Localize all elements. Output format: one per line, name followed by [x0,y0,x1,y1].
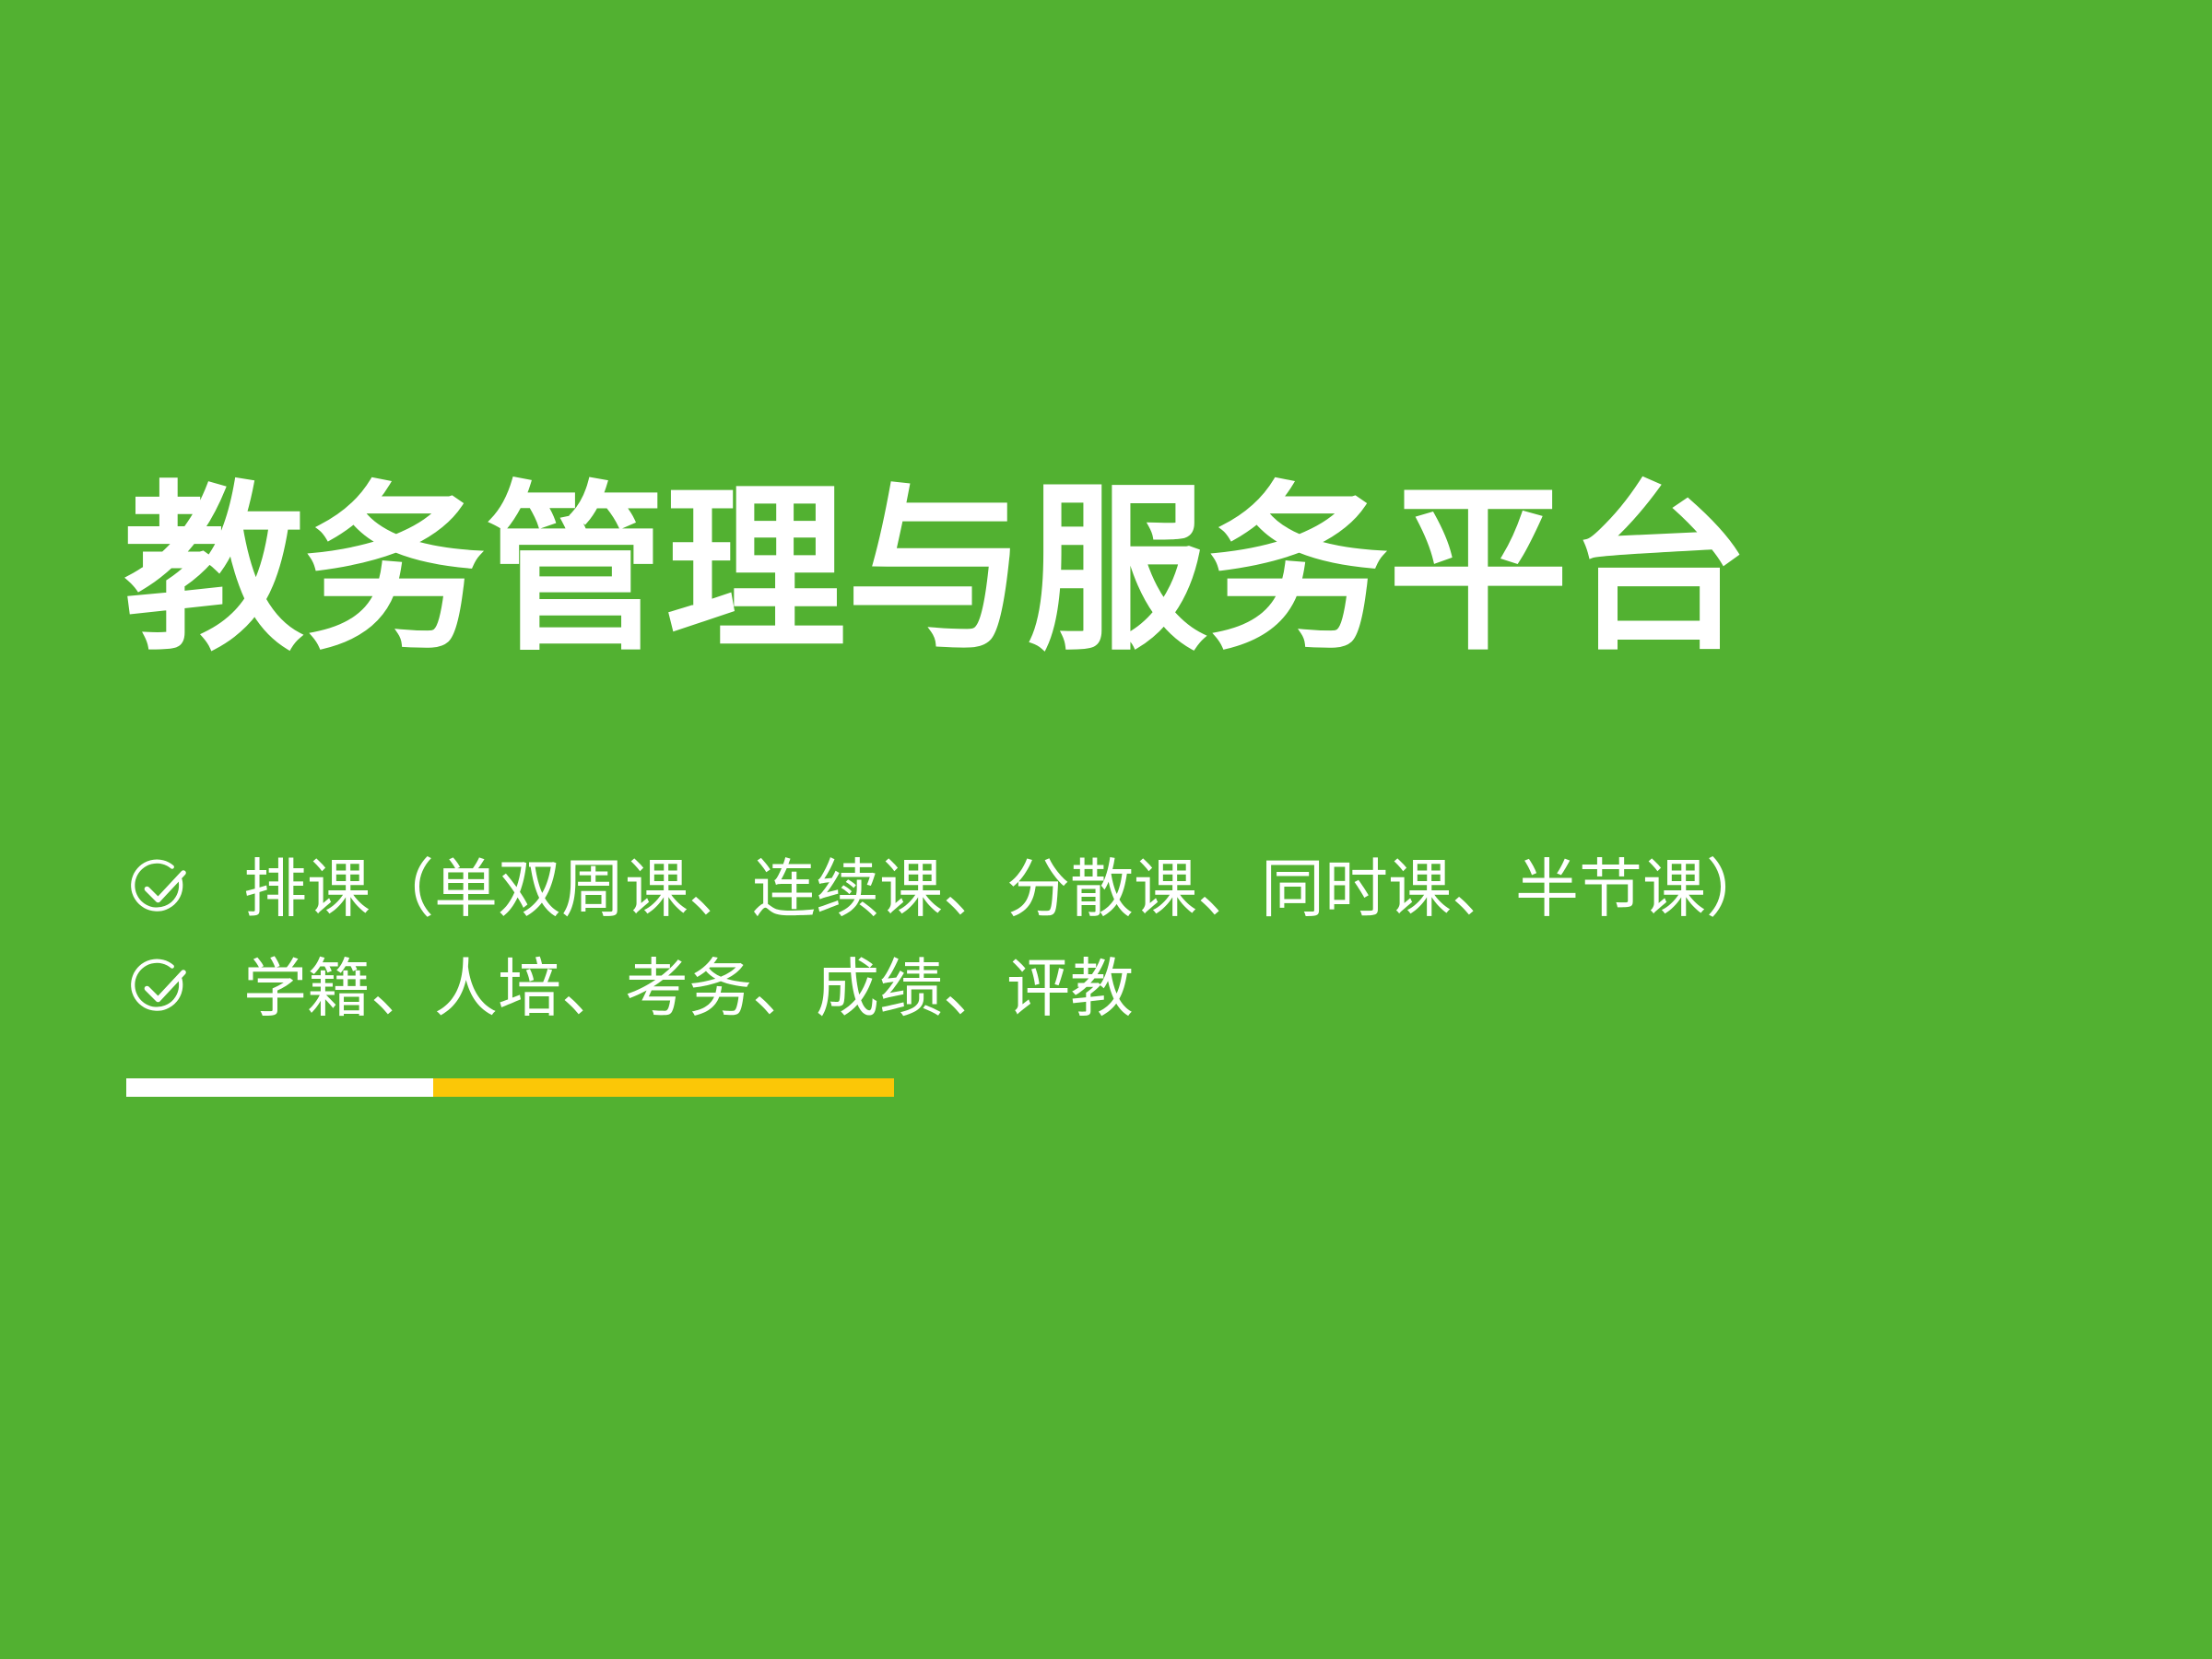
check-circle-icon [129,857,192,920]
check-circle-icon [129,957,192,1019]
accent-bar-yellow-segment [433,1078,894,1097]
presentation-slide: 教务管理与服务平台 排课（单双周课、连续课、分散课、同时课、半节课） 学籍、人培… [0,0,2212,1659]
page-title: 教务管理与服务平台 [124,471,1749,670]
list-item-label: 排课（单双周课、连续课、分散课、同时课、半节课） [243,857,1770,921]
list-item: 学籍、人培、考务、成绩、评教 [129,957,1770,1019]
accent-divider-bar [126,1078,894,1097]
accent-bar-white-segment [126,1078,433,1097]
list-item-label: 学籍、人培、考务、成绩、评教 [243,957,1134,1020]
list-item: 排课（单双周课、连续课、分散课、同时课、半节课） [129,857,1770,920]
feature-bullet-list: 排课（单双周课、连续课、分散课、同时课、半节课） 学籍、人培、考务、成绩、评教 [129,857,1770,1019]
